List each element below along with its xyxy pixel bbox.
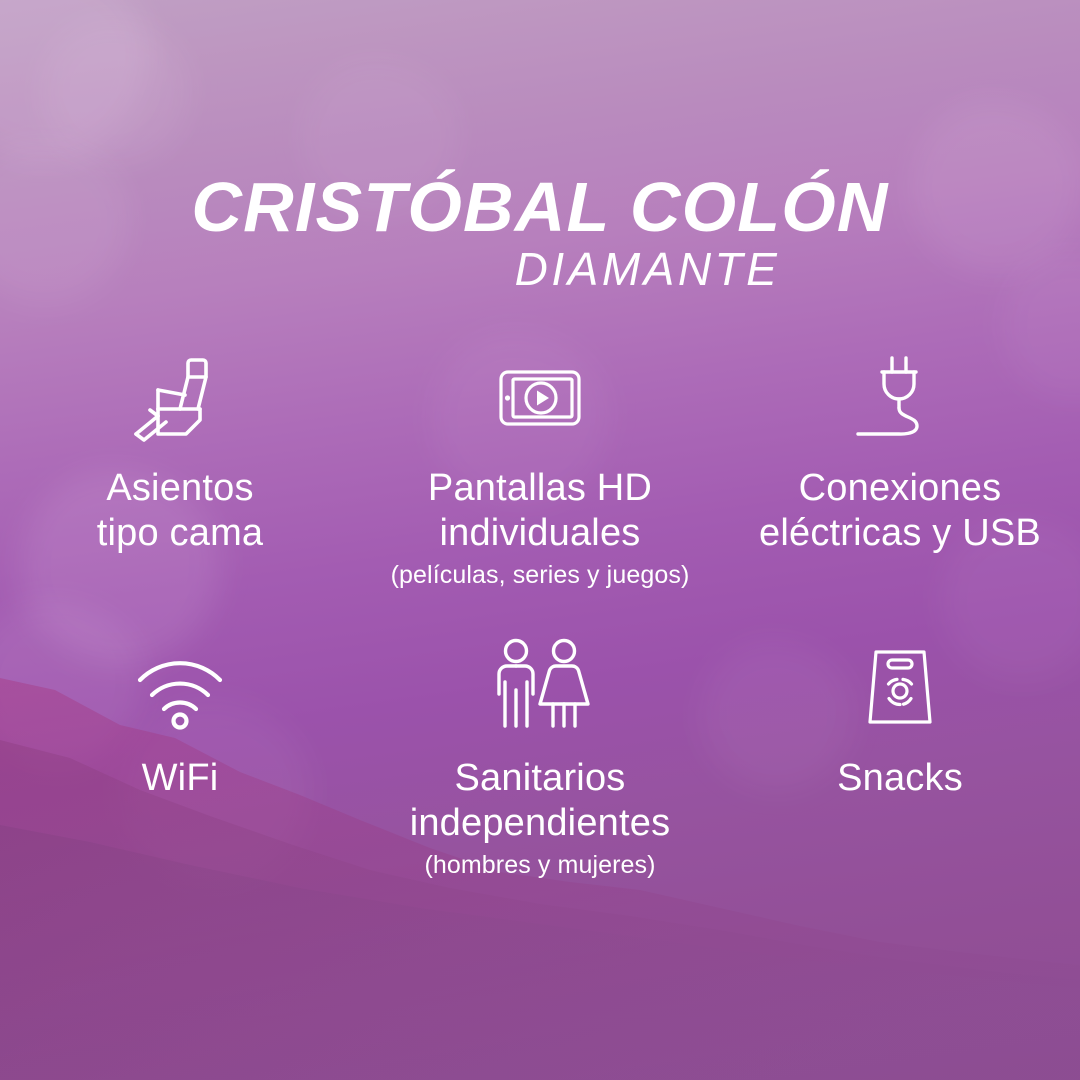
wifi-icon [128, 638, 232, 734]
feature-grid: Asientos tipo cama Pantallas HD individu… [0, 340, 1080, 920]
page-title: CRISTÓBAL COLÓN [0, 172, 1080, 243]
snack-bag-icon [848, 638, 952, 734]
power-plug-icon [848, 348, 952, 448]
bokeh-blob [0, 0, 150, 160]
feature-label: WiFi [142, 756, 219, 801]
feature-label: Conexiones eléctricas y USB [759, 466, 1041, 556]
feature-sublabel: (hombres y mujeres) [424, 850, 655, 880]
feature-sublabel: (películas, series y juegos) [391, 560, 690, 590]
feature-label: Asientos tipo cama [97, 466, 264, 556]
promo-poster: CRISTÓBAL COLÓN DIAMANTE As [0, 0, 1080, 1080]
feature-label: Pantallas HD individuales [428, 466, 652, 556]
feature-item-restrooms: Sanitarios independientes (hombres y muj… [360, 630, 720, 920]
feature-item-snacks: Snacks [720, 630, 1080, 920]
feature-label: Sanitarios independientes [410, 756, 671, 846]
bokeh-blob [40, 20, 190, 165]
feature-item-screens: Pantallas HD individuales (películas, se… [360, 340, 720, 630]
feature-item-seats: Asientos tipo cama [0, 340, 360, 630]
reclining-seat-icon [128, 348, 232, 448]
restroom-man-woman-icon [485, 638, 595, 734]
title-block: CRISTÓBAL COLÓN DIAMANTE [0, 172, 1080, 294]
feature-label: Snacks [837, 756, 963, 801]
feature-item-power: Conexiones eléctricas y USB [720, 340, 1080, 630]
feature-item-wifi: WiFi [0, 630, 360, 920]
page-subtitle: DIAMANTE [215, 245, 1080, 293]
tablet-play-screen-icon [488, 348, 592, 448]
